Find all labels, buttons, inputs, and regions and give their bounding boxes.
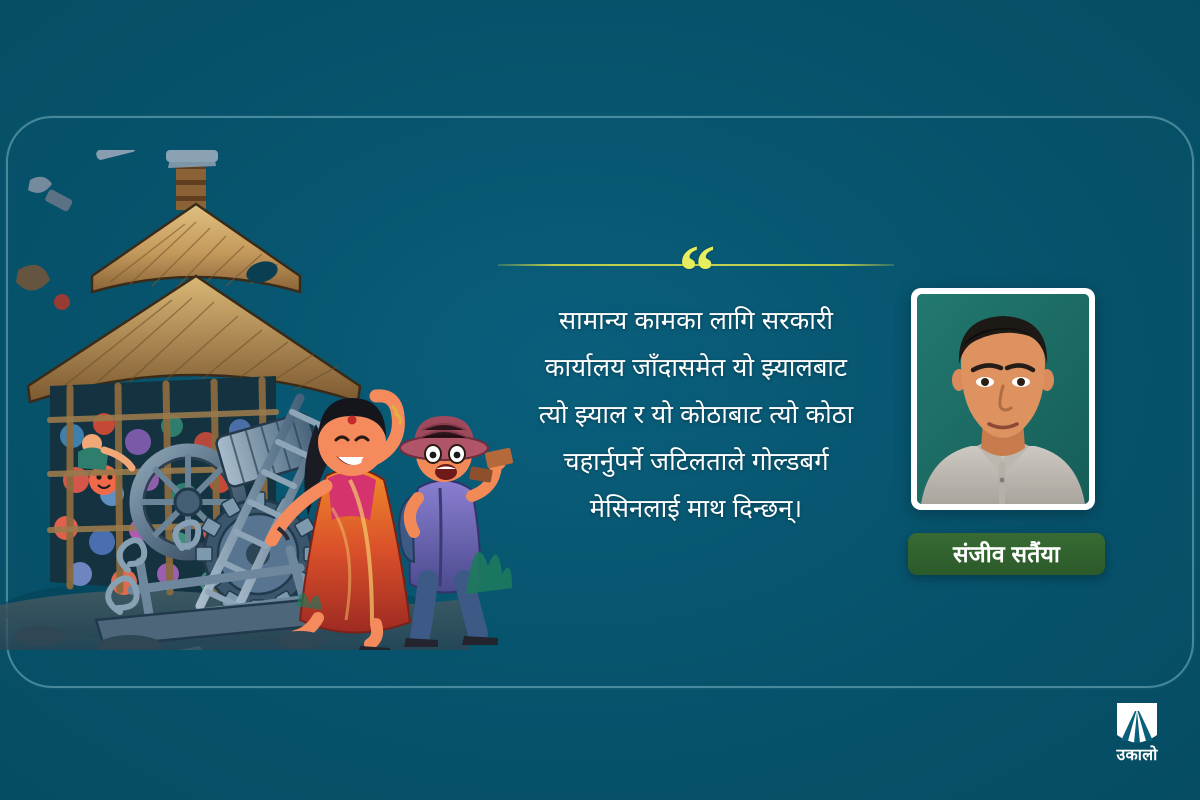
brand-name: उकालो — [1104, 748, 1170, 764]
quote-line: कार्यालय जाँदासमेत यो झ्यालबाट — [498, 345, 894, 392]
brand-logo[interactable]: उकालो — [1104, 701, 1170, 764]
speaker-name: संजीव सतैंया — [953, 543, 1060, 566]
quote-line: मेसिनलाई माथ दिन्छन्। — [498, 486, 894, 533]
illustration — [0, 150, 520, 650]
poster-canvas: “ सामान्य कामका लागि सरकारी कार्यालय जाँ… — [0, 0, 1200, 800]
avatar — [917, 294, 1089, 504]
quote-divider: “ — [498, 248, 894, 282]
illustration-svg — [0, 150, 520, 650]
quote-mark-icon: “ — [679, 235, 714, 309]
quote-block: “ सामान्य कामका लागि सरकारी कार्यालय जाँ… — [498, 248, 894, 533]
quote-line: चहार्नुपर्ने जटिलताले गोल्डबर्ग — [498, 439, 894, 486]
portrait-svg — [917, 294, 1089, 504]
quote-text: सामान्य कामका लागि सरकारी कार्यालय जाँदा… — [498, 298, 894, 533]
speaker-name-badge: संजीव सतैंया — [908, 533, 1105, 575]
speaker-photo-card — [911, 288, 1095, 510]
converging-paths-logo-icon — [1111, 701, 1163, 745]
quote-line: त्यो झ्याल र यो कोठाबाट त्यो कोठा — [498, 392, 894, 439]
